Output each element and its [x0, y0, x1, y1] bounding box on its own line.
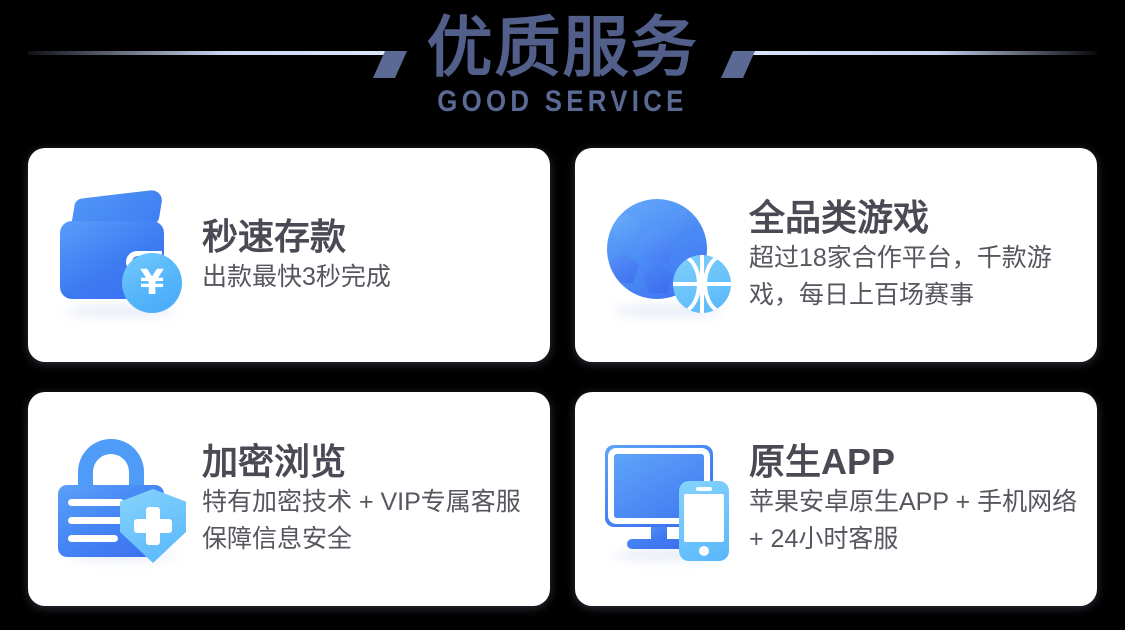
basketball-seam-curve-right [703, 255, 731, 313]
monitor-phone-icon [601, 429, 741, 569]
phone-home-button [699, 546, 709, 556]
service-card-text: 加密浏览 特有加密技术 + VIP专属客服保障信息安全 [202, 440, 542, 558]
page-header: 优质服务 GOOD SERVICE [0, 0, 1125, 140]
soccer-panel-1 [611, 213, 641, 243]
wallet-coin-icon: ¥ [54, 185, 194, 325]
card-subtitle: 苹果安卓原生APP + 手机网络 + 24小时客服 [749, 484, 1089, 558]
soccer-panel-2 [669, 209, 699, 239]
card-title: 加密浏览 [202, 440, 542, 484]
page-title: 优质服务 [0, 8, 1125, 86]
service-card-text: 秒速存款 出款最快3秒完成 [202, 215, 391, 296]
card-subtitle: 特有加密技术 + VIP专属客服保障信息安全 [202, 484, 542, 558]
lock-shield-icon [54, 429, 194, 569]
card-subtitle: 出款最快3秒完成 [202, 259, 391, 296]
phone-speaker-shape [696, 487, 712, 491]
yen-coin-icon: ¥ [122, 253, 182, 313]
soccer-panel-center [638, 227, 676, 263]
service-card-deposit[interactable]: ¥ 秒速存款 出款最快3秒完成 [28, 148, 550, 362]
card-subtitle: 超过18家合作平台，千款游戏，每日上百场赛事 [749, 240, 1089, 314]
service-card-text: 原生APP 苹果安卓原生APP + 手机网络 + 24小时客服 [749, 440, 1089, 558]
soccer-panel-3 [609, 253, 639, 283]
lock-stripe-3 [68, 535, 118, 542]
service-card-games[interactable]: 全品类游戏 超过18家合作平台，千款游戏，每日上百场赛事 [575, 148, 1097, 362]
header-text-block: 优质服务 GOOD SERVICE [0, 0, 1125, 118]
basketball-seam-curve-left [673, 255, 701, 313]
card-title: 原生APP [749, 440, 1089, 484]
service-card-native-app[interactable]: 原生APP 苹果安卓原生APP + 手机网络 + 24小时客服 [575, 392, 1097, 606]
soccer-basketball-icon [601, 185, 741, 325]
soccer-panel-4 [643, 263, 673, 293]
card-title: 秒速存款 [202, 215, 391, 259]
lock-stripe-1 [68, 499, 124, 506]
basketball-icon [673, 255, 731, 313]
service-card-encryption[interactable]: 加密浏览 特有加密技术 + VIP专属客服保障信息安全 [28, 392, 550, 606]
page-subtitle: GOOD SERVICE [79, 86, 1047, 118]
phone-screen-shape [684, 494, 724, 542]
service-card-grid: ¥ 秒速存款 出款最快3秒完成 全 [28, 148, 1097, 606]
service-card-text: 全品类游戏 超过18家合作平台，千款游戏，每日上百场赛事 [749, 196, 1089, 314]
shield-plus-horizontal [134, 519, 172, 533]
card-title: 全品类游戏 [749, 196, 1089, 240]
